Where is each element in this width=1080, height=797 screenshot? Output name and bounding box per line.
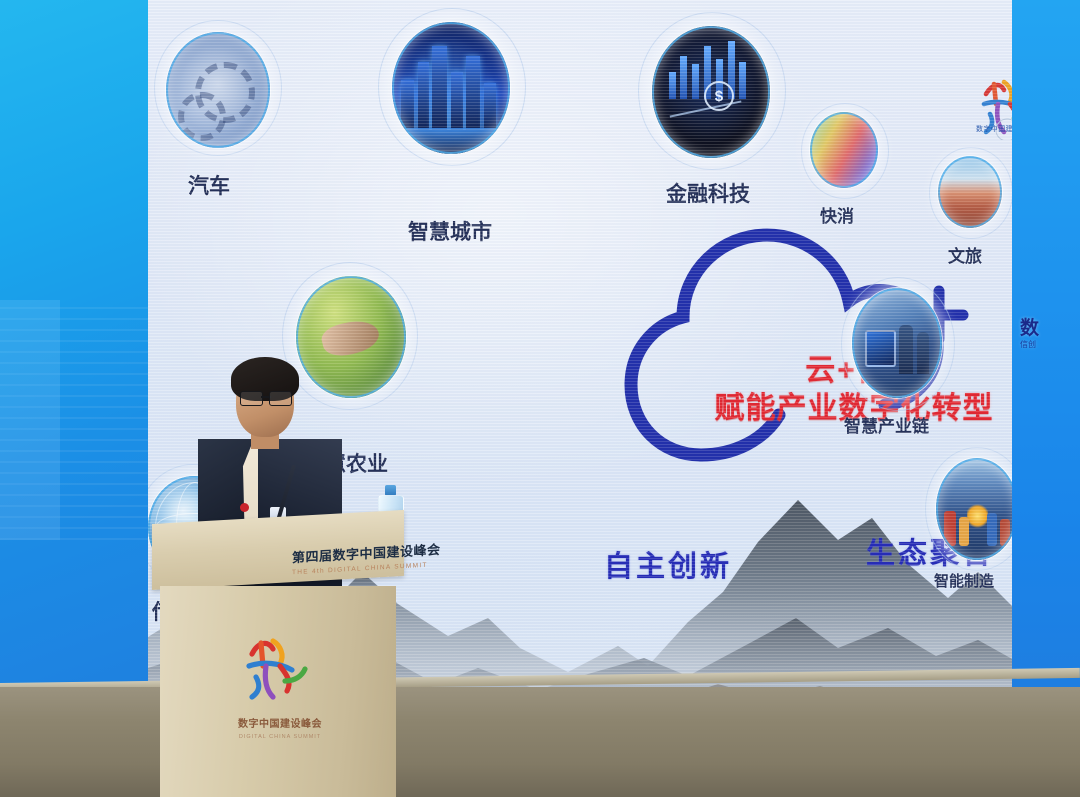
industry-label-industry-chain: 智慧产业链 <box>844 412 929 437</box>
side-panel-right-glyph: 数 <box>1020 318 1040 339</box>
side-panel-left <box>0 0 150 720</box>
industry-label-smart-manufacturing: 智能制造 <box>934 570 994 591</box>
industry-label-automotive: 汽车 <box>188 170 230 200</box>
pillar-word-1: 自主创新 <box>604 543 732 585</box>
podium-logo: 数字中国建设峰会 DIGITAL CHINA SUMMIT <box>232 632 328 740</box>
node-photo-fmcg-icon <box>810 112 878 188</box>
side-panel-right: 数 信创 <box>1012 0 1080 716</box>
industry-label-smart-city: 智慧城市 <box>408 216 492 246</box>
summit-logo: 第四届数字中国建设峰会 THE 4th DIGITAL CHINA SUMMIT… <box>974 74 1014 142</box>
side-panel-left-texture <box>0 300 150 540</box>
summit-sub-cn: 数字中国建设峰会 <box>976 124 1014 134</box>
node-photo-automotive-icon <box>166 32 270 148</box>
node-photo-culture-tourism-icon <box>938 156 1002 228</box>
industry-label-culture-tourism: 文旅 <box>948 242 982 267</box>
node-photo-smart-city-icon <box>392 22 510 154</box>
node-photo-industry-chain-icon <box>852 288 942 398</box>
glasses-icon <box>240 391 292 404</box>
dollar-icon: $ <box>704 81 734 111</box>
side-panel-right-text: 数 信创 <box>1020 318 1080 349</box>
podium-logo-cn: 数字中国建设峰会 <box>230 715 330 730</box>
stage-photo: 云+信创 赋能产业数字化转型 自主创新 生态聚合 汽车 <box>0 0 1080 797</box>
podium: 第四届数字中国建设峰会 THE 4th DIGITAL CHINA SUMMIT… <box>152 524 404 797</box>
lapel-pin <box>240 503 249 512</box>
node-photo-smart-manufacturing-icon <box>936 458 1014 560</box>
podium-logo-en: DIGITAL CHINA SUMMIT <box>230 734 330 740</box>
node-photo-fintech-icon: $ <box>652 26 770 158</box>
side-panel-right-sub: 信创 <box>1020 340 1080 349</box>
industry-label-fintech: 金融科技 <box>666 178 750 208</box>
industry-label-fmcg: 快消 <box>820 202 854 227</box>
